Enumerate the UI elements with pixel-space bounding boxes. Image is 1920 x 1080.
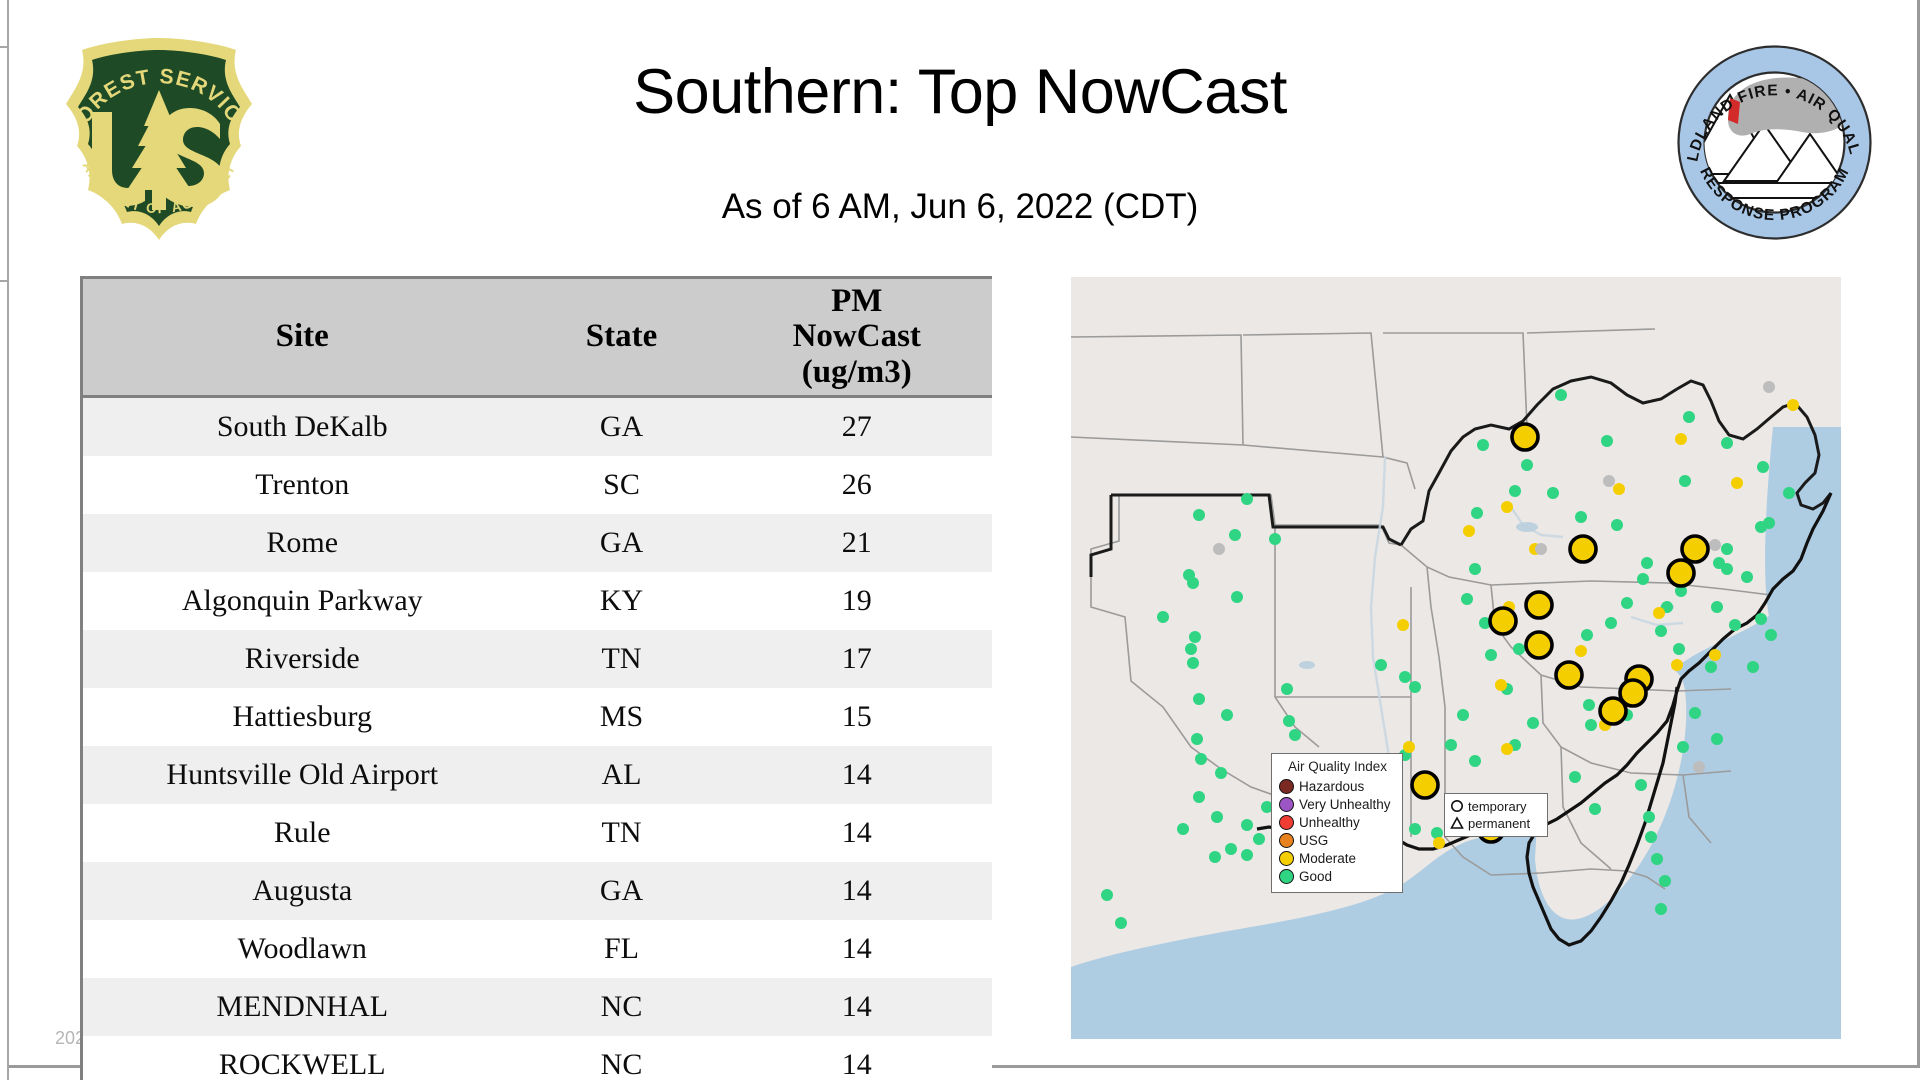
cell-site: ROCKWELL [82,1036,522,1080]
legend-label: Hazardous [1299,779,1364,794]
air-quality-map[interactable]: Air Quality Index HazardousVery Unhealth… [1071,277,1841,1039]
cell-pm-nowcast: 21 [722,514,993,572]
cell-pm-nowcast: 15 [722,688,993,746]
cell-state: KY [522,572,722,630]
legend-swatch-icon [1279,815,1294,830]
legend-row-good: Good [1279,867,1396,885]
legend-label: Good [1299,869,1332,884]
sliver-segment-top [0,0,7,46]
triangle-outline-icon [1450,816,1464,831]
cell-pm-nowcast: 17 [722,630,993,688]
table-header-row: Site State PM NowCast (ug/m3) [82,278,993,397]
legend-swatch-icon [1279,869,1294,884]
nowcast-table-body: South DeKalbGA27TrentonSC26RomeGA21Algon… [82,397,993,1080]
cell-state: TN [522,630,722,688]
column-header-site[interactable]: Site [82,278,522,397]
cell-site: Algonquin Parkway [82,572,522,630]
legend-swatch-icon [1279,797,1294,812]
cell-pm-nowcast: 14 [722,746,993,804]
pm-header-line3: (ug/m3) [726,355,989,391]
table-row[interactable]: RiversideTN17 [82,630,993,688]
legend-label-permanent: permanent [1468,816,1530,831]
cell-state: GA [522,514,722,572]
circle-outline-icon [1450,799,1464,814]
cell-pm-nowcast: 26 [722,456,993,514]
cell-state: TN [522,804,722,862]
table-row[interactable]: MENDNHALNC14 [82,978,993,1036]
cell-site: Trenton [82,456,522,514]
legend-rows: HazardousVery UnhealthyUnhealthyUSGModer… [1279,777,1396,885]
pm-header-line1: PM [726,284,989,320]
cell-pm-nowcast: 27 [722,397,993,457]
map-legend-air-quality-index: Air Quality Index HazardousVery Unhealth… [1271,753,1403,893]
table-row[interactable]: Huntsville Old AirportAL14 [82,746,993,804]
legend-row-hazardous: Hazardous [1279,777,1396,795]
cell-site: Rome [82,514,522,572]
cell-state: NC [522,1036,722,1080]
pm-header-line2: NowCast [726,319,989,355]
legend-title: Air Quality Index [1279,759,1396,774]
legend-label: USG [1299,833,1328,848]
table-row[interactable]: RuleTN14 [82,804,993,862]
table-row[interactable]: AugustaGA14 [82,862,993,920]
map-legend-site-type: temporary permanent [1444,793,1548,837]
cell-site: Huntsville Old Airport [82,746,522,804]
cell-site: Woodlawn [82,920,522,978]
cell-pm-nowcast: 14 [722,978,993,1036]
legend-label: Unhealthy [1299,815,1360,830]
cell-site: MENDNHAL [82,978,522,1036]
adjacent-slide-sliver [0,0,9,1080]
wfaqrp-logo: WILDLAND FIRE • AIR QUALITY RESPONSE PRO… [1672,40,1877,245]
legend-swatch-icon [1279,833,1294,848]
cell-state: MS [522,688,722,746]
legend-row-temporary: temporary [1450,798,1542,815]
nowcast-table-container: Site State PM NowCast (ug/m3) South DeKa… [80,276,992,1080]
cell-pm-nowcast: 19 [722,572,993,630]
page-title: Southern: Top NowCast [0,56,1920,128]
cell-site: Rule [82,804,522,862]
legend-row-very-unhealthy: Very Unhealthy [1279,795,1396,813]
nowcast-table: Site State PM NowCast (ug/m3) South DeKa… [80,276,992,1080]
column-header-state[interactable]: State [522,278,722,397]
legend-label: Moderate [1299,851,1356,866]
legend-swatch-icon [1279,779,1294,794]
cell-state: GA [522,862,722,920]
table-row[interactable]: ROCKWELLNC14 [82,1036,993,1080]
column-header-pm-nowcast[interactable]: PM NowCast (ug/m3) [722,278,993,397]
table-row[interactable]: Algonquin ParkwayKY19 [82,572,993,630]
table-row[interactable]: TrentonSC26 [82,456,993,514]
cell-state: SC [522,456,722,514]
cell-pm-nowcast: 14 [722,1036,993,1080]
legend-swatch-icon [1279,851,1294,866]
cell-state: FL [522,920,722,978]
cell-pm-nowcast: 14 [722,804,993,862]
legend-label: Very Unhealthy [1299,797,1391,812]
cell-state: AL [522,746,722,804]
table-row[interactable]: WoodlawnFL14 [82,920,993,978]
cell-site: Riverside [82,630,522,688]
cell-site: Hattiesburg [82,688,522,746]
legend-row-unhealthy: Unhealthy [1279,813,1396,831]
cell-site: South DeKalb [82,397,522,457]
legend-row-permanent: permanent [1450,815,1542,832]
table-row[interactable]: South DeKalbGA27 [82,397,993,457]
table-row[interactable]: RomeGA21 [82,514,993,572]
cell-state: NC [522,978,722,1036]
legend-row-moderate: Moderate [1279,849,1396,867]
page-subtitle: As of 6 AM, Jun 6, 2022 (CDT) [0,187,1920,227]
cell-state: GA [522,397,722,457]
cell-pm-nowcast: 14 [722,920,993,978]
legend-row-usg: USG [1279,831,1396,849]
table-row[interactable]: HattiesburgMS15 [82,688,993,746]
slide-root: FOREST SERVICE DEPARTMENT OF AGRICULTURE… [0,0,1920,1080]
legend-label-temporary: temporary [1468,799,1527,814]
cell-site: Augusta [82,862,522,920]
cell-pm-nowcast: 14 [722,862,993,920]
